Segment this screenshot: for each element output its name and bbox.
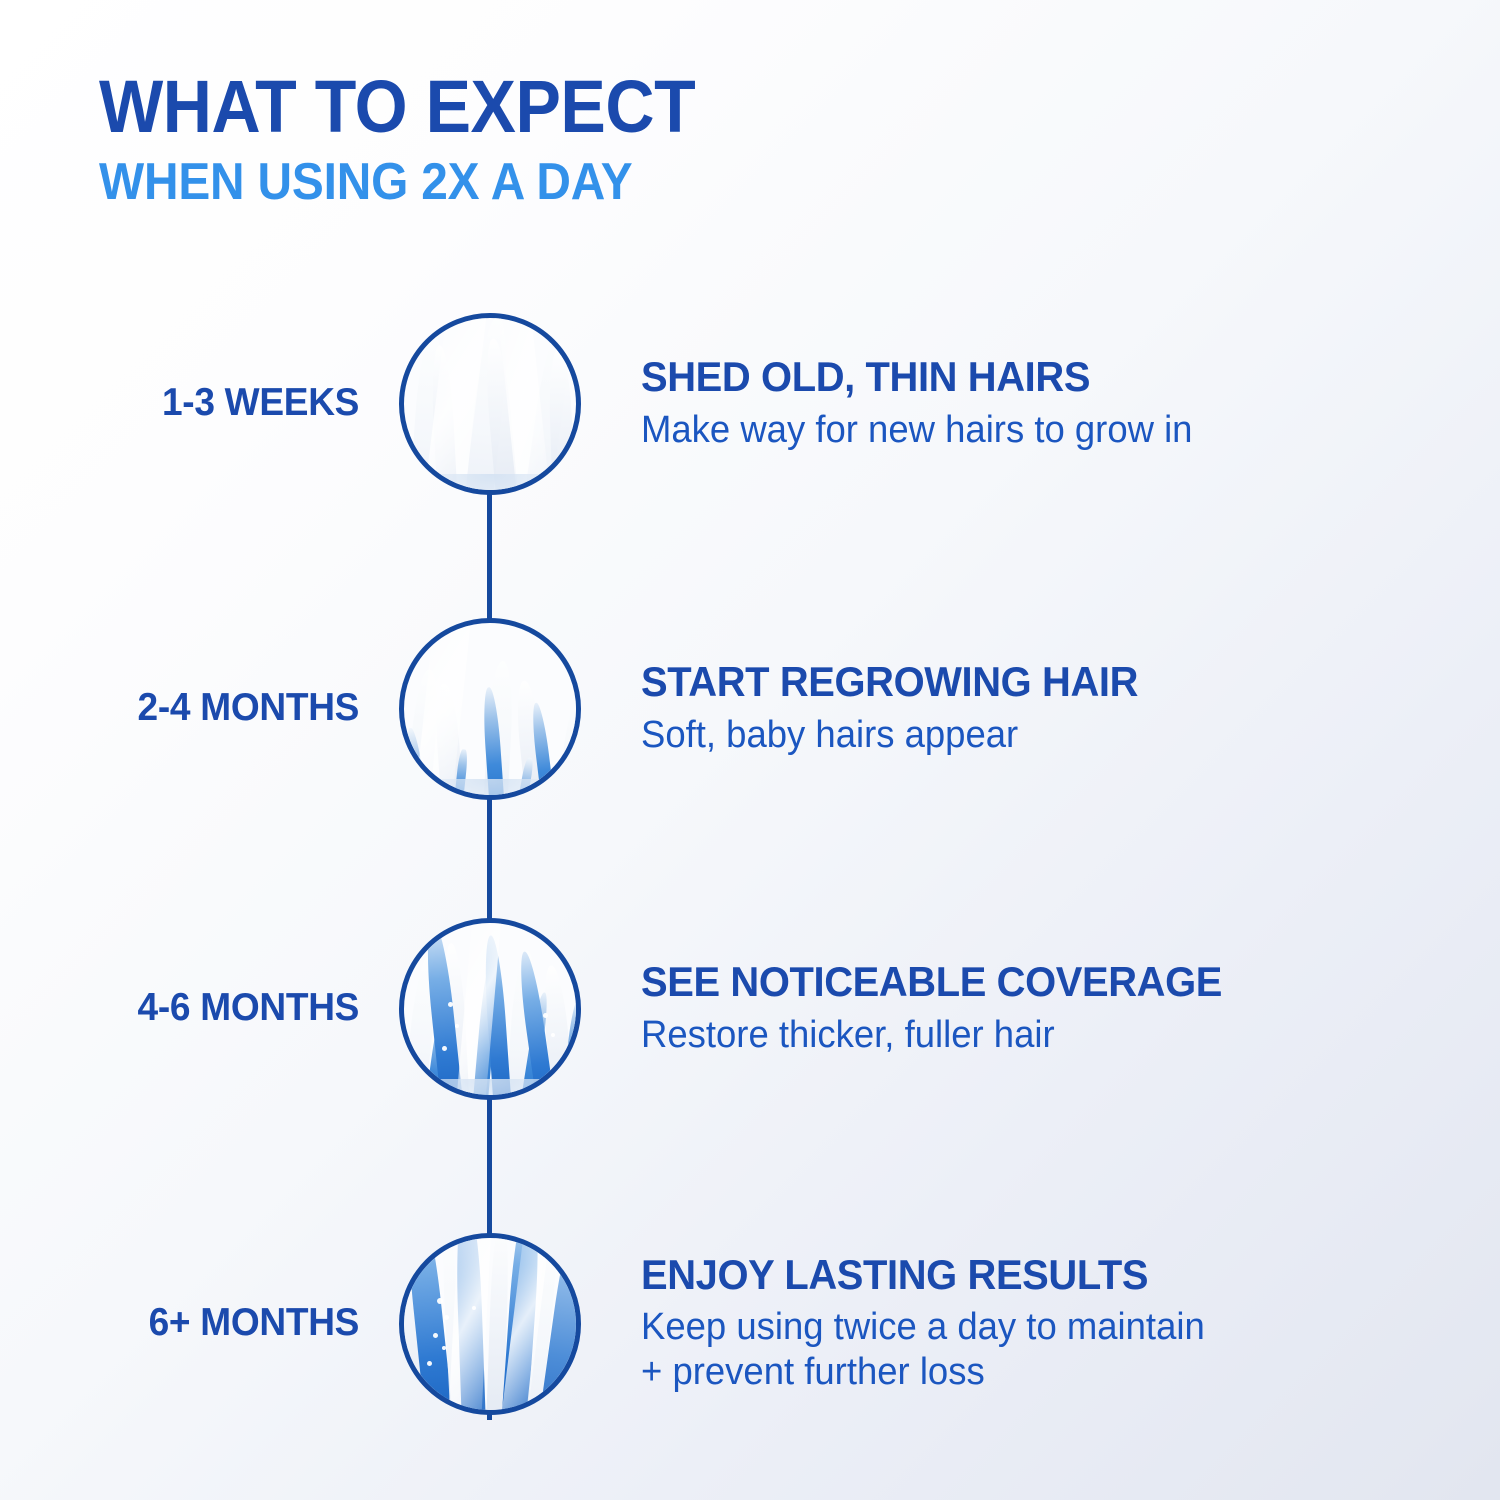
timeline-step: 4-6 MONTHS — [0, 918, 1500, 1098]
timeline-step-body: Keep using twice a day to maintain + pre… — [641, 1305, 1419, 1395]
timeline-step-copy: ENJOY LASTING RESULTS Keep using twice a… — [641, 1233, 1451, 1415]
timeline-step: 2-4 MONTHS — [0, 618, 1500, 798]
timeline-step-body: Soft, baby hairs appear — [641, 713, 1419, 758]
timeline-step-heading: START REGROWING HAIR — [641, 660, 1411, 703]
body-line: Restore thicker, fuller hair — [641, 1013, 1419, 1058]
timeline-step-copy: SHED OLD, THIN HAIRS Make way for new ha… — [641, 313, 1451, 495]
timeline-step-body: Make way for new hairs to grow in — [641, 408, 1419, 453]
timeline-step-body: Restore thicker, fuller hair — [641, 1013, 1419, 1058]
sparse-blue-hairs-closeup-icon — [399, 618, 581, 800]
timeline-step-period: 1-3 WEEKS — [76, 313, 380, 493]
timeline-step-copy: SEE NOTICEABLE COVERAGE Restore thicker,… — [641, 918, 1451, 1100]
page-title: WHAT TO EXPECT — [99, 72, 695, 142]
page-header: WHAT TO EXPECT WHEN USING 2X A DAY — [99, 72, 747, 208]
timeline-step-heading: SHED OLD, THIN HAIRS — [641, 355, 1411, 398]
body-line: Make way for new hairs to grow in — [641, 408, 1419, 453]
timeline-step: 6+ MONTHS — [0, 1233, 1500, 1413]
fuller-blue-hairs-closeup-icon — [399, 918, 581, 1100]
timeline-step-image — [399, 618, 581, 800]
dense-blue-hairs-closeup-icon — [399, 1233, 581, 1415]
pale-bristles-closeup-icon — [399, 313, 581, 495]
body-line: + prevent further loss — [641, 1350, 1419, 1395]
page-subtitle: WHEN USING 2X A DAY — [99, 156, 695, 208]
timeline-step-image — [399, 313, 581, 495]
timeline-step-image — [399, 1233, 581, 1415]
body-line: Keep using twice a day to maintain — [641, 1305, 1419, 1350]
timeline-step-copy: START REGROWING HAIR Soft, baby hairs ap… — [641, 618, 1451, 800]
timeline-step: 1-3 WEEKS SHED OLD, THIN HAIRS — [0, 313, 1500, 493]
timeline-step-period: 4-6 MONTHS — [76, 918, 380, 1098]
timeline-step-heading: SEE NOTICEABLE COVERAGE — [641, 960, 1411, 1003]
timeline-step-image — [399, 918, 581, 1100]
timeline-step-period: 6+ MONTHS — [76, 1233, 380, 1413]
body-line: Soft, baby hairs appear — [641, 713, 1419, 758]
timeline-step-heading: ENJOY LASTING RESULTS — [641, 1253, 1411, 1296]
timeline-step-period: 2-4 MONTHS — [76, 618, 380, 798]
